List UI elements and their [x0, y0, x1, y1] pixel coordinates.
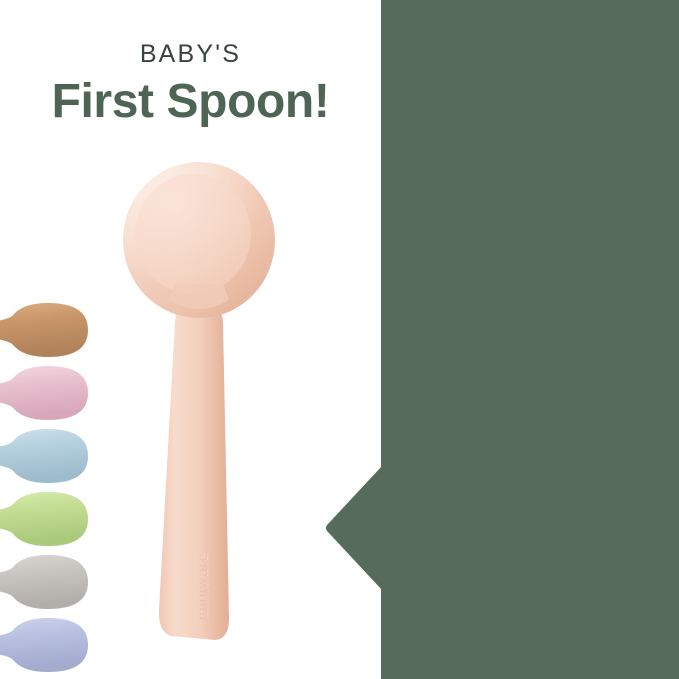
headline-main: First Spoon! — [0, 76, 381, 128]
mini-spoon-periwinkle — [0, 617, 98, 673]
mini-spoon-cotton-candy — [0, 365, 98, 421]
color-swatch-spoons — [0, 302, 98, 654]
headline-kicker: BABY'S — [0, 42, 381, 67]
spoon-brand-emboss: miniware — [195, 552, 212, 620]
mini-spoon-aqua — [0, 428, 98, 484]
page-title: BABY'S First Spoon! — [0, 42, 381, 128]
right-feature-panel: SELF-FEEDING MADE EASY! ROUNDED HANDLES … — [381, 0, 679, 679]
mini-spoon-caramel — [0, 302, 98, 358]
mini-spoon-grey — [0, 554, 98, 610]
mini-spoon-key-lime — [0, 491, 98, 547]
product-infographic: BABY'S First Spoon! — [0, 0, 679, 679]
main-product-spoon: miniware — [119, 160, 287, 652]
callout-arrow — [324, 466, 382, 590]
